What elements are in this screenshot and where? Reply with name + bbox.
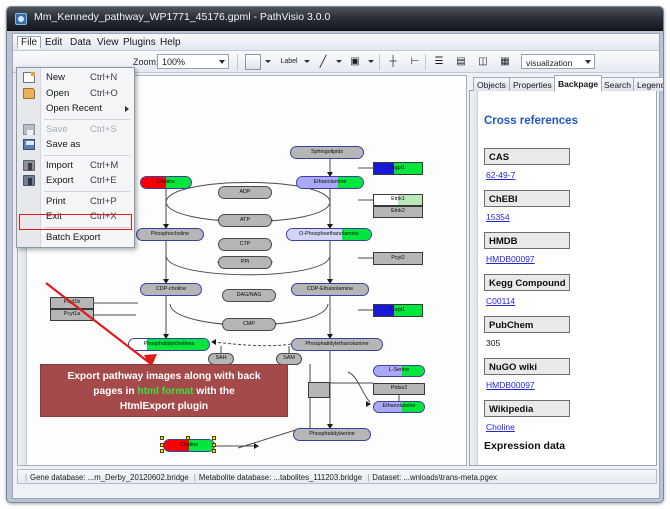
status-gene-db-label: Gene database: — [30, 473, 86, 482]
menu-item-open-recent[interactable]: Open Recent — [17, 101, 134, 117]
tab-objects[interactable]: Objects — [473, 77, 510, 91]
status-sep-1: | — [191, 473, 199, 482]
zoom-value: 100% — [162, 57, 185, 67]
save-icon — [23, 124, 35, 135]
toolbar-divider-2 — [379, 54, 380, 70]
visualization-chevron-down-icon — [585, 60, 591, 64]
file-menu-dropdown[interactable]: New Ctrl+N Open Ctrl+O Open Recent Save … — [16, 67, 135, 248]
tab-properties[interactable]: Properties — [509, 77, 556, 91]
xref-db-kegg-compound: Kegg Compound — [484, 274, 570, 291]
side-panel-tabstrip: Objects Properties Backpage Search Legen… — [469, 75, 657, 91]
visualization-combo[interactable]: visualization — [521, 54, 595, 69]
xref-value-nugo[interactable]: HMDB00097 — [486, 380, 535, 390]
import-icon — [23, 160, 35, 171]
expression-data-title: Expression data — [484, 440, 565, 452]
menu-edit[interactable]: Edit — [41, 36, 66, 49]
menu-item-new-accel: Ctrl+N — [90, 72, 117, 83]
submenu-chevron-right-icon — [125, 106, 129, 112]
xref-db-cas: CAS — [484, 148, 570, 165]
menu-bar: File Edit Data View Plugins Help — [13, 34, 659, 51]
xref-db-chebi: ChEBI — [484, 190, 570, 207]
menu-item-save-as[interactable]: Save as — [17, 137, 134, 153]
xref-value-hmdb[interactable]: HMDB00097 — [486, 254, 535, 264]
menu-item-new[interactable]: New Ctrl+N — [17, 70, 134, 86]
window-title: Mm_Kennedy_pathway_WP1771_45176.gpml - P… — [34, 11, 330, 23]
pathvisio-icon — [15, 13, 27, 25]
status-gene-db-value: ...m_Derby_20120602.bridge — [88, 473, 189, 482]
menu-item-open-label: Open — [46, 88, 69, 99]
menu-item-save: Save Ctrl+S — [17, 122, 134, 138]
menu-item-print[interactable]: Print Ctrl+P — [17, 194, 134, 210]
xref-db-pubchem: PubChem — [484, 316, 570, 333]
toolbar-divider — [237, 54, 238, 70]
label-icon[interactable]: Label — [277, 54, 301, 70]
xref-value-pubchem: 305 — [486, 338, 500, 348]
menu-item-new-label: New — [46, 72, 65, 83]
menu-item-save-as-label: Save as — [46, 139, 80, 150]
order-icon[interactable]: ▦ — [497, 54, 513, 70]
align-icon[interactable]: ☰ — [431, 54, 447, 70]
anchor-icon[interactable]: ┼ — [385, 54, 401, 70]
stack-icon[interactable]: ◫ — [475, 54, 491, 70]
status-dataset-label: Dataset: — [372, 473, 401, 482]
menu-item-export[interactable]: Export Ctrl+E — [17, 173, 134, 189]
xref-value-kegg[interactable]: C00114 — [486, 296, 515, 306]
menu-help[interactable]: Help — [156, 36, 185, 49]
zoom-label: Zoom: — [133, 57, 159, 67]
menu-file[interactable]: File — [17, 36, 41, 49]
callout-highlight: html format — [137, 386, 193, 397]
menu-item-export-accel: Ctrl+E — [90, 175, 117, 186]
xref-db-hmdb: HMDB — [484, 232, 570, 249]
client-area: File Edit Data View Plugins Help Zoom: 1… — [12, 33, 660, 499]
xref-db-nugo-wiki: NuGO wiki — [484, 358, 570, 375]
title-bar: Mm_Kennedy_pathway_WP1771_45176.gpml - P… — [7, 7, 663, 31]
status-bar: |Gene database: ...m_Derby_20120602.brid… — [17, 469, 657, 484]
menu-plugins[interactable]: Plugins — [119, 36, 160, 49]
cross-references-title: Cross references — [484, 115, 578, 127]
menu-data[interactable]: Data — [66, 36, 95, 49]
grid-icon[interactable] — [245, 54, 261, 70]
line-icon[interactable]: ╱ — [315, 54, 331, 70]
xref-db-wikipedia: Wikipedia — [484, 400, 570, 417]
menu-item-exit[interactable]: Exit Ctrl+X — [17, 209, 134, 225]
menu-item-exit-label: Exit — [46, 211, 62, 222]
save-as-icon — [23, 139, 35, 150]
menu-item-export-label: Export — [46, 175, 73, 186]
grid-chevron-down-icon[interactable] — [265, 60, 271, 63]
menu-item-batch-export-label: Batch Export — [46, 232, 100, 243]
shape-icon[interactable]: ▣ — [347, 54, 363, 70]
menu-item-open-accel: Ctrl+O — [90, 88, 118, 99]
callout-line-3: HtmlExport plugin — [41, 399, 287, 414]
xref-value-cas[interactable]: 62-49-7 — [486, 170, 515, 180]
menu-item-open-recent-label: Open Recent — [46, 103, 102, 114]
shape-chevron-down-icon[interactable] — [368, 60, 374, 63]
chevron-down-icon — [219, 60, 225, 64]
status-metab-db-label: Metabolite database: — [199, 473, 271, 482]
toolbar-divider-3 — [425, 54, 426, 70]
menu-item-print-accel: Ctrl+P — [90, 196, 117, 207]
visualization-value: visualization — [526, 58, 572, 68]
xref-value-chebi[interactable]: 15354 — [486, 212, 510, 222]
menu-item-exit-accel: Ctrl+X — [90, 211, 117, 222]
tab-backpage[interactable]: Backpage — [554, 75, 602, 92]
line-chevron-down-icon[interactable] — [336, 60, 342, 63]
distribute-icon[interactable]: ▤ — [453, 54, 469, 70]
callout-line-1: Export pathway images along with back — [41, 369, 287, 384]
side-panel: Objects Properties Backpage Search Legen… — [469, 75, 657, 466]
annotation-callout: Export pathway images along with back pa… — [40, 364, 288, 417]
menu-item-open[interactable]: Open Ctrl+O — [17, 86, 134, 102]
menu-item-import-label: Import — [46, 160, 73, 171]
status-metab-db-value: ...tabolites_111203.bridge — [273, 473, 362, 482]
menu-item-save-label: Save — [46, 124, 68, 135]
status-dataset-value: ...wnloads\trans-meta.pgex — [403, 473, 497, 482]
menu-item-batch-export[interactable]: Batch Export — [17, 230, 134, 246]
callout-line-2: pages in html format with the — [41, 384, 287, 399]
menu-item-print-label: Print — [46, 196, 66, 207]
screenshot-root: Mm_Kennedy_pathway_WP1771_45176.gpml - P… — [0, 0, 670, 509]
new-file-icon — [23, 72, 35, 83]
callout-line-2a: pages in — [93, 386, 137, 397]
menu-item-import-accel: Ctrl+M — [90, 160, 118, 171]
xref-value-wikipedia[interactable]: Choline — [486, 422, 515, 432]
tab-legend[interactable]: Legend — [633, 77, 664, 91]
tab-search[interactable]: Search — [600, 77, 635, 91]
export-icon — [23, 175, 35, 186]
menu-item-import[interactable]: Import Ctrl+M — [17, 158, 134, 174]
callout-line-2b: with the — [193, 386, 234, 397]
backpage-scrollbar[interactable] — [470, 91, 478, 465]
menu-item-save-accel: Ctrl+S — [90, 124, 117, 135]
application-window: Mm_Kennedy_pathway_WP1771_45176.gpml - P… — [6, 6, 664, 503]
status-sep-0: | — [22, 473, 30, 482]
zoom-combo[interactable]: 100% — [157, 54, 229, 69]
label-chevron-down-icon[interactable] — [304, 60, 310, 63]
open-folder-icon — [23, 88, 35, 99]
interaction-icon[interactable]: ⊢ — [407, 54, 423, 70]
backpage-content: Cross references CAS 62-49-7 ChEBI 15354… — [469, 91, 657, 466]
